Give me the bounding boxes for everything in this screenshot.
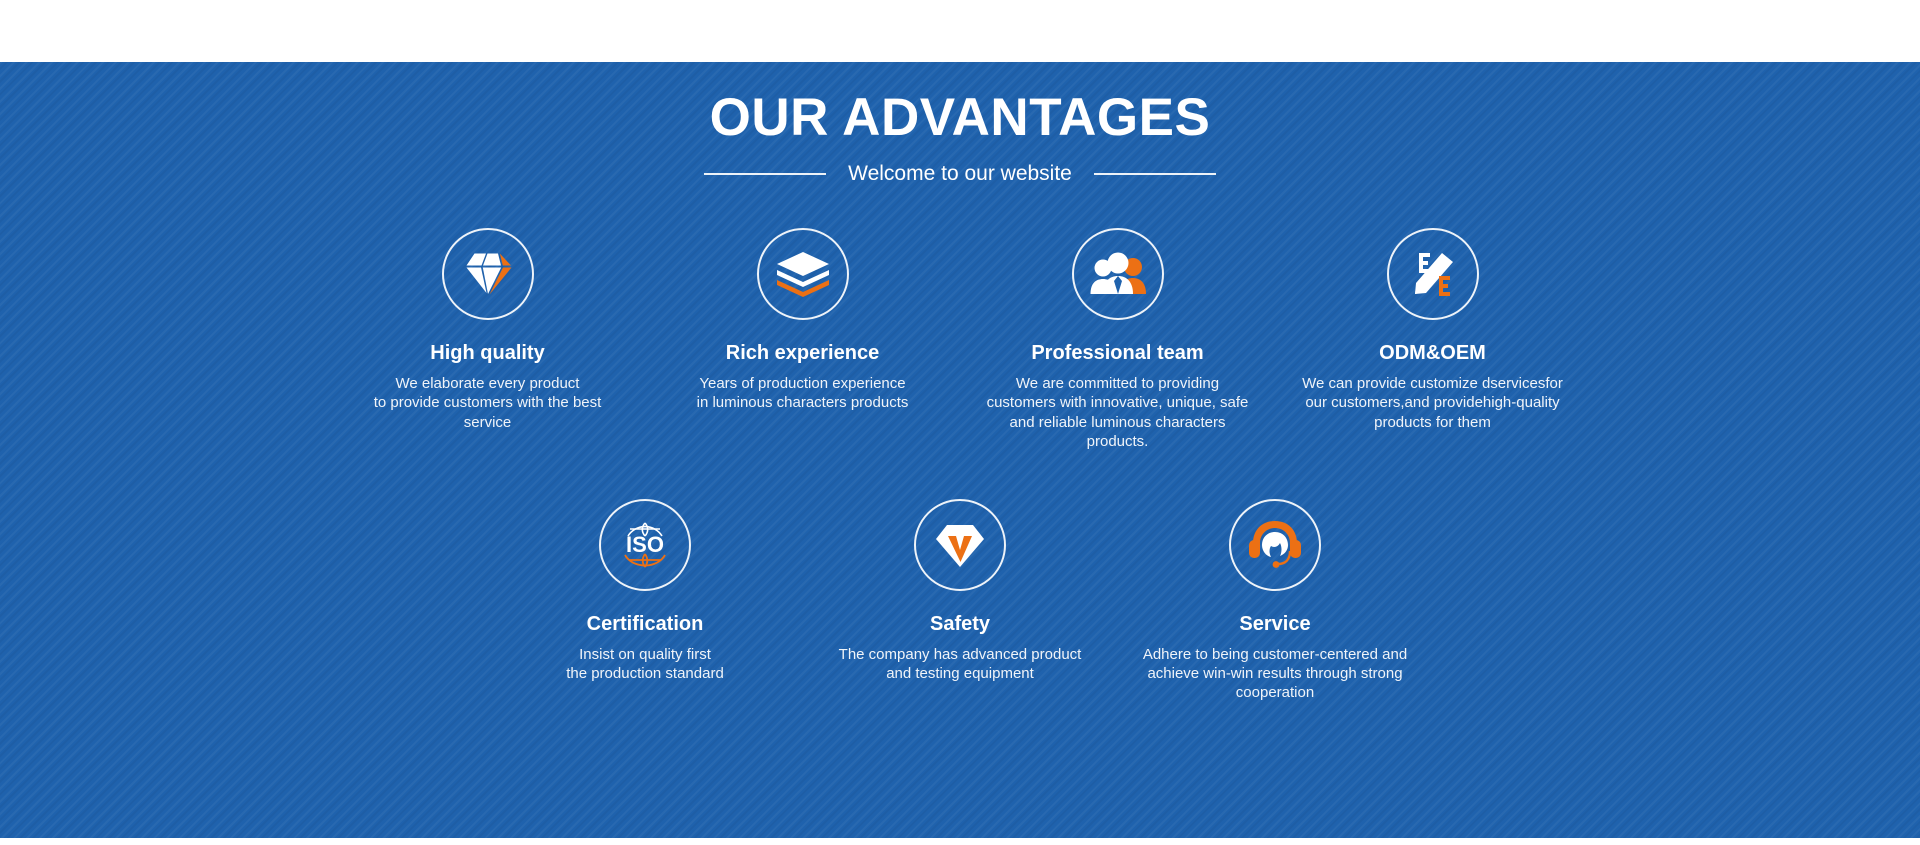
feature-description: We are committed to providing customers … xyxy=(987,374,1249,451)
feature-description: Adhere to being customer-centered and ac… xyxy=(1143,645,1407,703)
feature-title: High quality xyxy=(430,341,544,365)
page-root: OUR ADVANTAGES Welcome to our website xyxy=(0,0,1920,845)
feature-title: ODM&OEM xyxy=(1379,341,1486,365)
feature-card-certification[interactable]: ISO Certification Insist on quality firs… xyxy=(488,499,803,683)
svg-text:ISO: ISO xyxy=(626,532,664,557)
bottom-white-strip xyxy=(0,838,1920,845)
page-title: OUR ADVANTAGES xyxy=(0,89,1920,146)
divider-line-right xyxy=(1094,173,1216,175)
top-white-strip xyxy=(0,0,1920,62)
diamond-check-icon xyxy=(914,499,1006,591)
feature-title: Safety xyxy=(930,612,990,636)
stacked-layers-icon xyxy=(757,228,849,320)
feature-description: Years of production experience in lumino… xyxy=(697,374,909,412)
team-people-icon xyxy=(1072,228,1164,320)
feature-description: We can provide customize dservicesfor ou… xyxy=(1302,374,1563,432)
feature-title: Certification xyxy=(587,612,704,636)
feature-card-high-quality[interactable]: High quality We elaborate every product … xyxy=(330,228,645,432)
diamond-gem-icon xyxy=(442,228,534,320)
section-heading-block: OUR ADVANTAGES Welcome to our website xyxy=(0,62,1920,186)
feature-description: We elaborate every product to provide cu… xyxy=(374,374,602,432)
subtitle-row: Welcome to our website xyxy=(0,162,1920,186)
headset-support-icon xyxy=(1229,499,1321,591)
pencil-design-icon xyxy=(1387,228,1479,320)
feature-title: Service xyxy=(1239,612,1310,636)
section-subtitle: Welcome to our website xyxy=(848,162,1072,186)
feature-title: Professional team xyxy=(1031,341,1203,365)
our-advantages-section: OUR ADVANTAGES Welcome to our website xyxy=(0,62,1920,838)
divider-line-left xyxy=(704,173,826,175)
feature-description: Insist on quality first the production s… xyxy=(566,645,724,683)
feature-card-rich-experience[interactable]: Rich experience Years of production expe… xyxy=(645,228,960,412)
feature-card-service[interactable]: Service Adhere to being customer-centere… xyxy=(1118,499,1433,703)
iso-globe-icon: ISO xyxy=(599,499,691,591)
feature-title: Rich experience xyxy=(726,341,879,365)
feature-card-professional-team[interactable]: Professional team We are committed to pr… xyxy=(960,228,1275,451)
feature-row-one: High quality We elaborate every product … xyxy=(0,228,1920,451)
feature-description: The company has advanced product and tes… xyxy=(839,645,1082,683)
feature-card-odm-oem[interactable]: ODM&OEM We can provide customize dservic… xyxy=(1275,228,1590,432)
feature-card-safety[interactable]: Safety The company has advanced product … xyxy=(803,499,1118,683)
feature-row-two: ISO Certification Insist on quality firs… xyxy=(0,499,1920,703)
